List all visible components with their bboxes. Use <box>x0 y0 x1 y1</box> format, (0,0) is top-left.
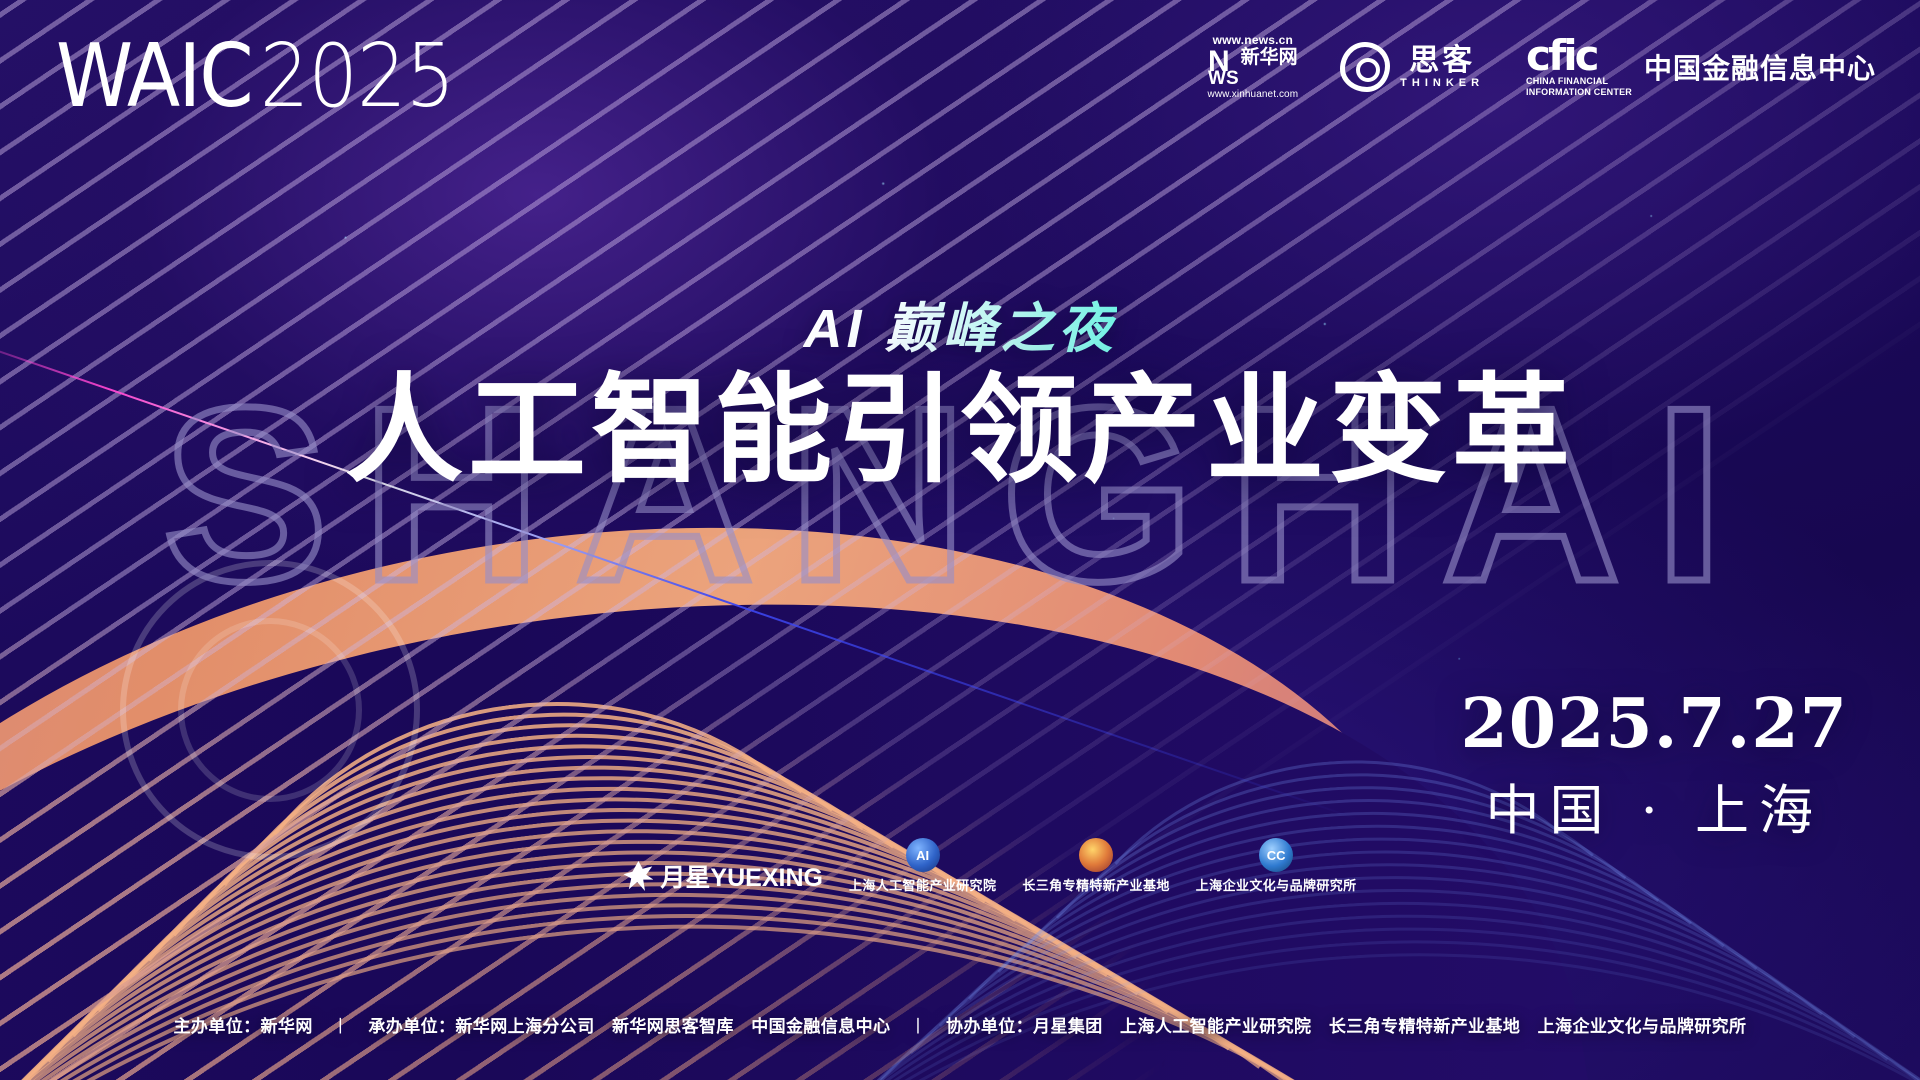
sponsor-label-shanghai-ai-institute: 上海人工智能产业研究院 <box>849 875 996 894</box>
event-date: 2025.7.27 <box>1460 690 1848 758</box>
credits-organizer: 主办单位：新华网 <box>174 1017 313 1036</box>
xinhuanet-cn-name: 新华网 <box>1241 48 1298 67</box>
xinhuanet-ws: WS <box>1208 69 1239 88</box>
event-location: 中国 · 上海 <box>1460 784 1848 838</box>
corp-culture-brand-badge-icon: CC <box>1259 838 1293 872</box>
cfic-en-line2: INFORMATION CENTER <box>1526 87 1632 98</box>
credits-line: 主办单位：新华网 丨 承办单位：新华网上海分公司 新华网思客智库 中国金融信息中… <box>0 1012 1920 1037</box>
sponsor-logo-shanghai-ai-institute: AI 上海人工智能产业研究院 <box>849 838 996 894</box>
cfic-mark: cfic <box>1526 37 1596 76</box>
waic-logo-name: WAIC <box>56 33 252 120</box>
sponsor-logo-row: 月星YUEXING AI 上海人工智能产业研究院 长三角专精特新产业基地 CC … <box>0 838 1920 894</box>
credits-separator-1: 丨 <box>332 1012 349 1037</box>
cfic-en-line1: CHINA FINANCIAL <box>1526 76 1608 87</box>
credits-coorganizer: 协办单位：月星集团 上海人工智能产业研究院 长三角专精特新产业基地 上海企业文化… <box>946 1017 1746 1036</box>
thinker-swirl-icon <box>1340 42 1390 92</box>
event-subtitle: AI 巅峰之夜 <box>803 300 1116 359</box>
waic-logo-year: 2025 <box>260 33 455 120</box>
shanghai-ai-institute-badge-icon: AI <box>906 838 940 872</box>
sponsor-label-corp-culture-brand: 上海企业文化与品牌研究所 <box>1196 875 1357 894</box>
sponsor-logo-yrd-base: 长三角专精特新产业基地 <box>1022 838 1169 894</box>
poster-canvas: SHANGHAI WAIC 2025 www.news.cn N WS 新华网 … <box>0 0 1920 1080</box>
waic-logo: WAIC 2025 <box>56 38 454 116</box>
sponsor-label-yrd-base: 长三角专精特新产业基地 <box>1022 875 1169 894</box>
cfic-logo: cfic CHINA FINANCIAL INFORMATION CENTER … <box>1526 37 1876 97</box>
media-logo-group: www.news.cn N WS 新华网 www.xinhuanet.com 思… <box>1208 34 1876 100</box>
sponsor-logo-yuexing: 月星YUEXING <box>623 858 823 894</box>
credits-separator-2: 丨 <box>910 1012 927 1037</box>
xinhuanet-url-bottom: www.xinhuanet.com <box>1208 89 1299 100</box>
credits-host: 承办单位：新华网上海分公司 新华网思客智库 中国金融信息中心 <box>368 1017 890 1036</box>
sponsor-label-yuexing: 月星YUEXING <box>660 858 823 894</box>
thinker-cn-name: 思客 <box>1409 45 1475 77</box>
sponsor-logo-corp-culture-brand: CC 上海企业文化与品牌研究所 <box>1196 838 1357 894</box>
event-date-location-block: 2025.7.27 中国 · 上海 <box>1460 690 1848 838</box>
poster-header: WAIC 2025 www.news.cn N WS 新华网 www.xinhu… <box>0 0 1920 140</box>
thinker-logo: 思客 THINKER <box>1340 42 1484 92</box>
yuexing-star-icon <box>623 861 653 891</box>
xinhuanet-logo: www.news.cn N WS 新华网 www.xinhuanet.com <box>1208 34 1299 100</box>
title-block: AI 巅峰之夜 人工智能引领产业变革 <box>0 300 1920 498</box>
thinker-en-name: THINKER <box>1400 77 1484 89</box>
yrd-base-badge-icon <box>1079 838 1113 872</box>
cfic-cn-name: 中国金融信息中心 <box>1644 47 1876 87</box>
event-headline: 人工智能引领产业变革 <box>0 365 1920 497</box>
